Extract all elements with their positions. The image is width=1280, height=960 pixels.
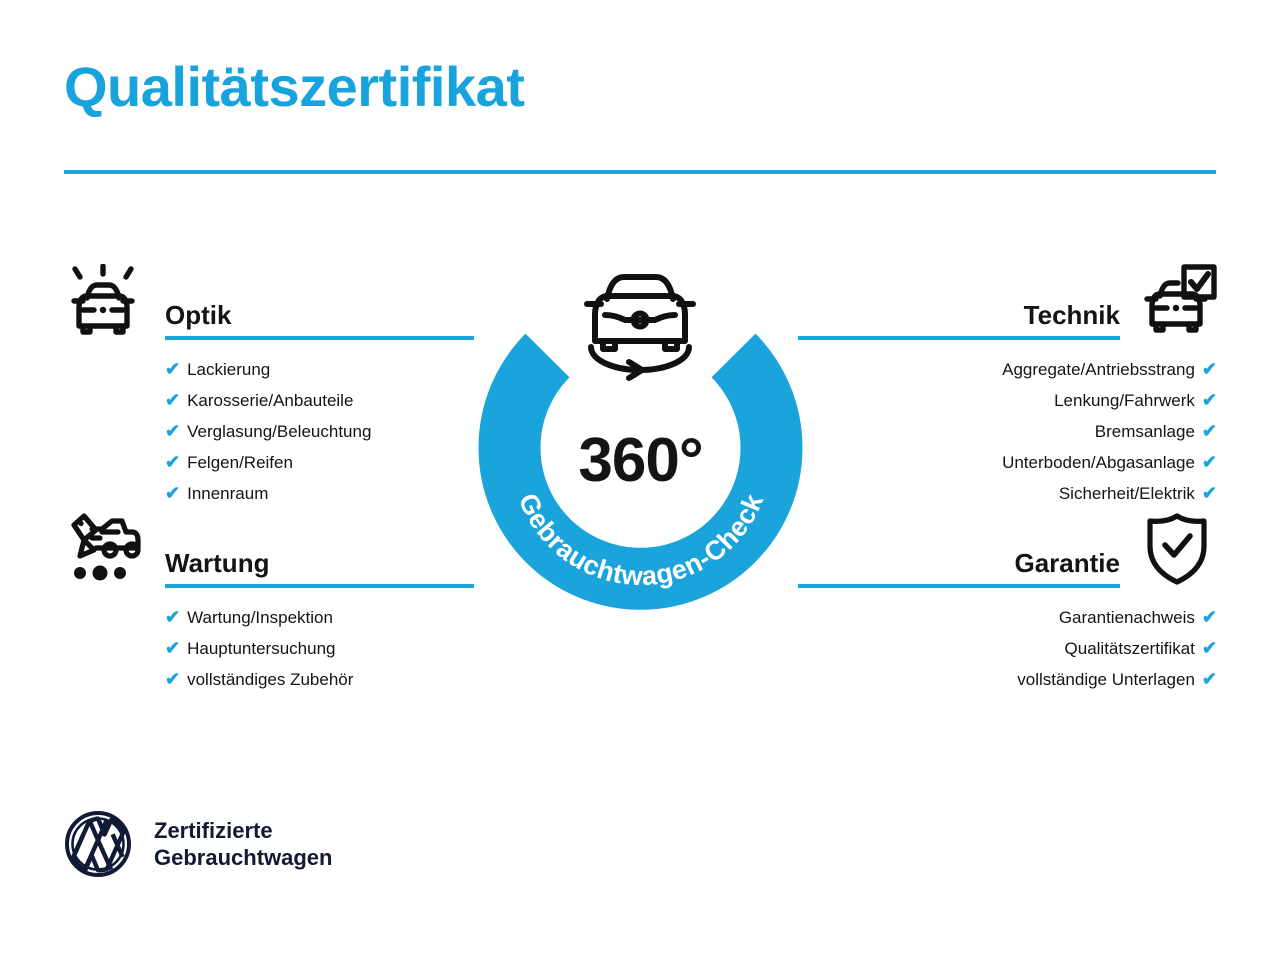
section-underline (798, 584, 1120, 588)
section-header: Technik (795, 262, 1220, 340)
list-item: Bremsanlage✔ (795, 416, 1217, 447)
badge-360-gebrauchtwagen-check: Gebrauchtwagen-Check 360° (463, 255, 818, 630)
check-icon: ✔ (165, 664, 180, 694)
check-icon: ✔ (1202, 602, 1217, 632)
list-item: ✔vollständiges Zubehör (165, 664, 480, 695)
list-item: Unterboden/Abgasanlage✔ (795, 447, 1217, 478)
list-item-label: Lackierung (187, 355, 270, 385)
list-item-label: Qualitätszertifikat (1065, 634, 1195, 664)
check-icon: ✔ (1202, 385, 1217, 415)
list-item: ✔Hauptuntersuchung (165, 633, 480, 664)
check-icon: ✔ (1202, 354, 1217, 384)
page-title: Qualitätszertifikat (64, 58, 524, 117)
check-icon: ✔ (165, 385, 180, 415)
list-item: ✔Felgen/Reifen (165, 447, 480, 478)
section-header: Garantie (795, 510, 1220, 588)
check-icon: ✔ (165, 416, 180, 446)
list-item-label: Hauptuntersuchung (187, 634, 335, 664)
check-icon: ✔ (1202, 447, 1217, 477)
list-item-label: Unterboden/Abgasanlage (1002, 448, 1195, 478)
car-front-shine-icon (60, 262, 146, 340)
section-underline (165, 584, 474, 588)
section-title: Technik (798, 301, 1120, 330)
list-item-label: Bremsanlage (1095, 417, 1195, 447)
check-icon: ✔ (165, 478, 180, 508)
footer-line-2: Gebrauchtwagen (154, 844, 332, 871)
header-divider (64, 170, 1216, 174)
list-item-label: vollständige Unterlagen (1017, 665, 1195, 695)
list-item: ✔Karosserie/Anbauteile (165, 385, 480, 416)
footer-brand: Zertifizierte Gebrauchtwagen (64, 810, 332, 878)
check-icon: ✔ (165, 447, 180, 477)
section-underline (798, 336, 1120, 340)
section-title-wrap: Optik (165, 301, 474, 340)
list-item-label: Felgen/Reifen (187, 448, 293, 478)
list-item-label: Karosserie/Anbauteile (187, 386, 353, 416)
section-title-wrap: Technik (798, 301, 1120, 340)
section-title-wrap: Garantie (798, 549, 1120, 588)
section-title-wrap: Wartung (165, 549, 474, 588)
list-item: Sicherheit/Elektrik✔ (795, 478, 1217, 509)
section-underline (165, 336, 474, 340)
list-item: ✔Innenraum (165, 478, 480, 509)
section-optik: Optik ✔Lackierung ✔Karosserie/Anbauteile… (60, 262, 480, 509)
list-item-label: Aggregate/Antriebsstrang (1002, 355, 1195, 385)
checklist-technik: Aggregate/Antriebsstrang✔ Lenkung/Fahrwe… (795, 354, 1220, 509)
list-item: Garantienachweis✔ (795, 602, 1217, 633)
section-header: Wartung (60, 510, 480, 588)
pencil-car-service-icon (60, 510, 146, 588)
list-item: Aggregate/Antriebsstrang✔ (795, 354, 1217, 385)
list-item: ✔Verglasung/Beleuchtung (165, 416, 480, 447)
list-item: ✔Lackierung (165, 354, 480, 385)
list-item-label: Verglasung/Beleuchtung (187, 417, 371, 447)
section-garantie: Garantie Garantienachweis✔ Qualitätszert… (795, 510, 1220, 695)
check-icon: ✔ (165, 354, 180, 384)
section-header: Optik (60, 262, 480, 340)
badge-center-value: 360° (463, 425, 818, 496)
car-front-checkbox-icon (1134, 262, 1220, 340)
section-title: Garantie (798, 549, 1120, 578)
list-item-label: vollständiges Zubehör (187, 665, 353, 695)
list-item-label: Innenraum (187, 479, 268, 509)
check-icon: ✔ (165, 602, 180, 632)
section-technik: Technik Aggregate/Antriebsstrang✔ Lenkun… (795, 262, 1220, 509)
section-wartung: Wartung ✔Wartung/Inspektion ✔Hauptunters… (60, 510, 480, 695)
section-title: Optik (165, 301, 474, 330)
list-item: ✔Wartung/Inspektion (165, 602, 480, 633)
volkswagen-logo-icon (64, 810, 132, 878)
list-item: Lenkung/Fahrwerk✔ (795, 385, 1217, 416)
checklist-optik: ✔Lackierung ✔Karosserie/Anbauteile ✔Verg… (60, 354, 480, 509)
list-item-label: Lenkung/Fahrwerk (1054, 386, 1195, 416)
check-icon: ✔ (165, 633, 180, 663)
list-item-label: Sicherheit/Elektrik (1059, 479, 1195, 509)
check-icon: ✔ (1202, 416, 1217, 446)
footer-line-1: Zertifizierte (154, 817, 332, 844)
check-icon: ✔ (1202, 633, 1217, 663)
list-item: Qualitätszertifikat✔ (795, 633, 1217, 664)
list-item-label: Wartung/Inspektion (187, 603, 333, 633)
check-icon: ✔ (1202, 664, 1217, 694)
checklist-wartung: ✔Wartung/Inspektion ✔Hauptuntersuchung ✔… (60, 602, 480, 695)
quality-certificate-page: Qualitätszertifikat (0, 0, 1280, 960)
footer-brand-text: Zertifizierte Gebrauchtwagen (154, 817, 332, 871)
list-item: vollständige Unterlagen✔ (795, 664, 1217, 695)
section-title: Wartung (165, 549, 474, 578)
shield-check-icon (1134, 510, 1220, 588)
checklist-garantie: Garantienachweis✔ Qualitätszertifikat✔ v… (795, 602, 1220, 695)
check-icon: ✔ (1202, 478, 1217, 508)
list-item-label: Garantienachweis (1059, 603, 1195, 633)
